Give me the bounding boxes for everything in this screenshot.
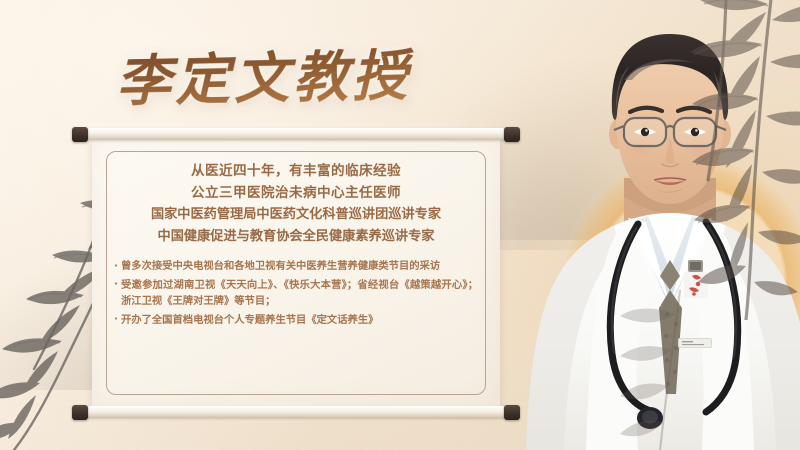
headline-line-3: 国家中医药管理局中医药文化科普巡讲团巡讲专家 (114, 204, 478, 226)
scroll-rod-bottom (84, 406, 508, 418)
headline-line-1: 从医近四十年，有丰富的临床经验 (114, 161, 478, 183)
banner-stage: 李定文教授 从医近四十年，有丰富的临床经验 公立三甲医院治未病中心主任医师 国家… (0, 0, 800, 450)
scroll-cap-bottom-left (72, 405, 88, 420)
page-title-wrap: 李定文教授 (116, 42, 456, 120)
credential-headlines: 从医近四十年，有丰富的临床经验 公立三甲医院治未病中心主任医师 国家中医药管理局… (114, 161, 478, 247)
scroll-cap-top-right (504, 127, 520, 142)
list-item: 曾多次接受中央电视台和各地卫视有关中医养生营养健康类节目的采访 (114, 258, 478, 275)
scroll-banner: 从医近四十年，有丰富的临床经验 公立三甲医院治未病中心主任医师 国家中医药管理局… (86, 128, 506, 418)
scroll-rod-top (84, 128, 508, 140)
headline-line-4: 中国健康促进与教育协会全民健康素养巡讲专家 (114, 226, 478, 248)
doctor-portrait (520, 8, 800, 450)
scroll-paper: 从医近四十年，有丰富的临床经验 公立三甲医院治未病中心主任医师 国家中医药管理局… (92, 137, 500, 409)
scroll-cap-top-left (72, 127, 88, 142)
list-item: 开办了全国首档电视台个人专题养生节目《定文话养生》 (114, 312, 478, 329)
scroll-cap-bottom-right (504, 405, 520, 420)
list-item: 受邀参加过湖南卫视《天天向上》、《快乐大本营》；省经视台《越策越开心》；浙江卫视… (114, 277, 478, 310)
scroll-content: 从医近四十年，有丰富的临床经验 公立三甲医院治未病中心主任医师 国家中医药管理局… (114, 161, 478, 391)
media-appearance-list: 曾多次接受中央电视台和各地卫视有关中医养生营养健康类节目的采访 受邀参加过湖南卫… (114, 258, 478, 330)
content-spacer (114, 247, 478, 258)
headline-line-2: 公立三甲医院治未病中心主任医师 (114, 183, 478, 205)
page-title: 李定文教授 (115, 38, 456, 117)
